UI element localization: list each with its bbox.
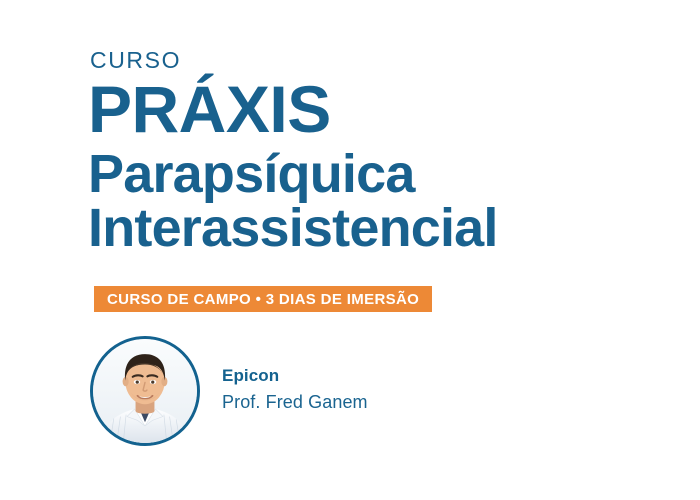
presenter-details: Epicon Prof. Fred Ganem (222, 365, 368, 417)
course-format-badge-label: CURSO DE CAMPO • 3 DIAS DE IMERSÃO (107, 292, 419, 307)
portrait-photo-icon (93, 339, 197, 443)
course-title-line-2: Interassistencial (88, 199, 688, 257)
course-title-main: PRÁXIS (88, 78, 688, 140)
poster-title-block: PRÁXIS Parapsíquica Interassistencial (88, 78, 688, 258)
course-title-line-1: Parapsíquica (88, 145, 688, 203)
course-format-badge: CURSO DE CAMPO • 3 DIAS DE IMERSÃO (94, 286, 432, 312)
presenter-name: Prof. Fred Ganem (222, 390, 368, 415)
presenter-organization: Epicon (222, 365, 368, 388)
avatar (90, 336, 200, 446)
course-eyebrow-label: CURSO (90, 49, 181, 72)
presenter-block: Epicon Prof. Fred Ganem (90, 336, 368, 446)
course-poster: CURSO PRÁXIS Parapsíquica Interassistenc… (0, 0, 700, 500)
